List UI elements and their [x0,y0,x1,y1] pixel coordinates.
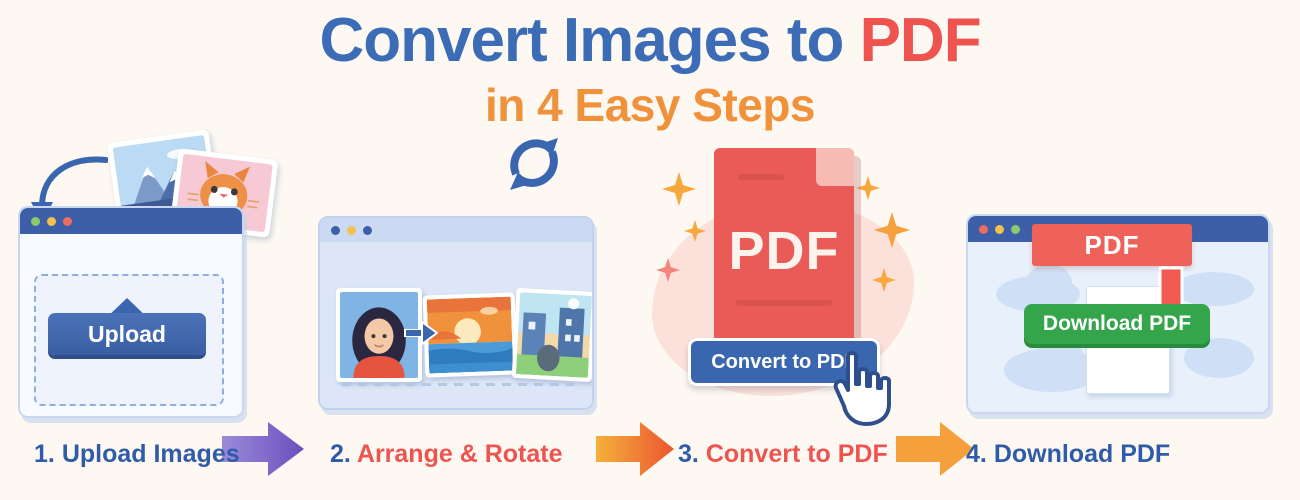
title-accent-text: PDF [860,6,981,75]
caption-step-4: 4. Download PDF [966,440,1170,469]
window-content [320,242,592,408]
step-4-illustration: PDF Download PDF [950,128,1290,438]
pdf-band-badge: PDF [1032,224,1192,266]
pdf-band-label: PDF [1085,230,1140,261]
caption-label: Download PDF [994,440,1170,468]
caption-label: Arrange & Rotate [357,440,563,468]
heading-block: Convert Images to PDF in 4 Easy Steps [0,10,1300,132]
infographic-canvas: Convert Images to PDF in 4 Easy Steps [0,0,1300,500]
window-dot-red-icon [979,225,988,234]
window-dot-yellow-icon [347,226,356,235]
step-captions: 1. Upload Images 2. Arrange & Rotate 3. … [0,440,1300,480]
window-titlebar [320,218,592,242]
upload-button[interactable]: Upload [48,313,206,355]
step-1-illustration: Upload [4,128,252,438]
upload-browser-window [18,206,244,418]
window-dot-yellow-icon [995,225,1004,234]
window-dot-green-icon [1011,225,1020,234]
doc-line [738,174,784,180]
caption-step-2: 2. Arrange & Rotate [330,440,562,469]
page-title: Convert Images to PDF [0,10,1300,72]
download-button-label: Download PDF [1043,312,1191,336]
rotate-icon[interactable] [496,130,572,196]
photo-city-icon[interactable] [512,288,594,382]
caption-label: Convert to PDF [706,440,888,468]
caption-number: 2. [330,440,351,468]
divider-dashed [342,383,574,386]
drag-arrow-icon [404,320,438,346]
upload-button-label: Upload [88,321,166,348]
sparkle-icon [874,212,910,248]
sparkle-icon [656,258,680,282]
hand-cursor-icon [832,350,894,426]
window-dot-green-icon [31,217,40,226]
download-pdf-button[interactable]: Download PDF [1024,304,1210,344]
caption-number: 1. [34,440,55,468]
step-2-illustration [312,128,598,438]
window-dot-blue-icon [331,226,340,235]
step-3-illustration: PDF Convert to PDF [650,128,922,438]
cloud-icon [1034,338,1084,378]
caption-step-1: 1. Upload Images [34,440,240,469]
window-dot-red-icon [63,217,72,226]
window-dot-blue2-icon [363,226,372,235]
caption-number: 3. [678,440,699,468]
pdf-document-icon: PDF [714,148,854,358]
doc-line [736,300,832,306]
title-main-text: Convert Images to [319,6,859,75]
caption-number: 4. [966,440,987,468]
arrange-browser-window [318,216,594,410]
sparkle-icon [662,172,696,206]
pdf-document-label: PDF [714,220,854,282]
caption-label: Upload Images [62,440,240,468]
sparkle-icon [872,268,896,292]
window-titlebar [20,208,242,234]
steps-row: Upload [0,128,1300,438]
sparkle-icon [684,220,706,242]
cloud-icon [1026,264,1072,302]
sparkle-icon [856,176,880,200]
page-subtitle: in 4 Easy Steps [0,78,1300,132]
caption-step-3: 3. Convert to PDF [678,440,888,469]
window-dot-yellow-icon [47,217,56,226]
page-fold-icon [816,148,854,186]
cloud-icon [1184,338,1254,378]
